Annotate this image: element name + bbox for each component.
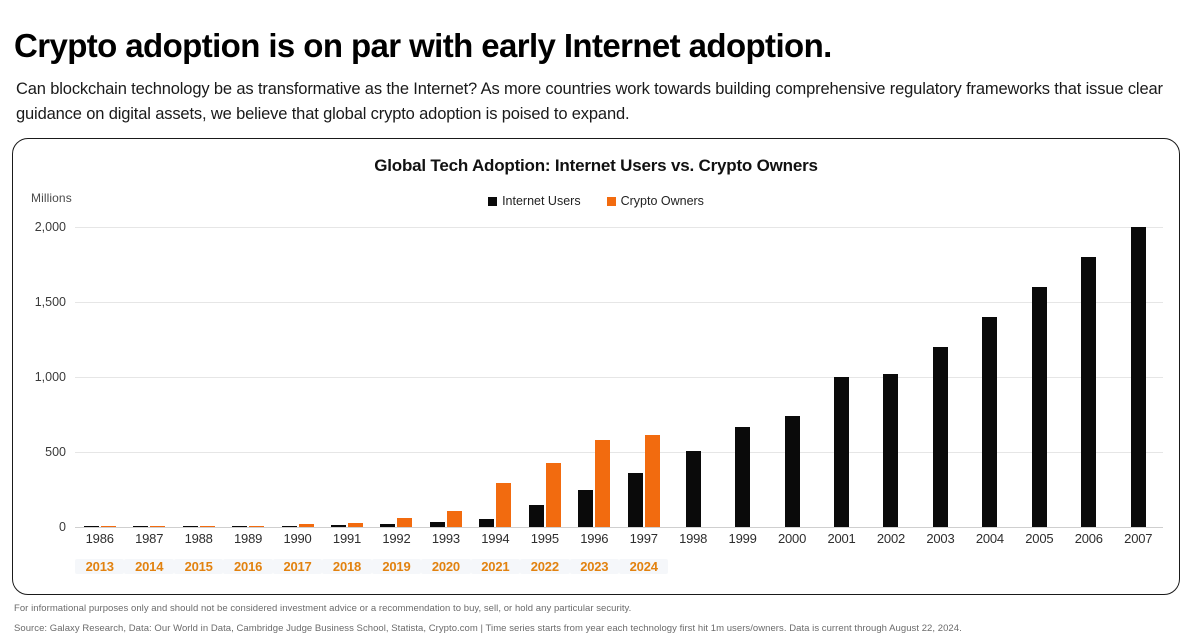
bar-group: [322, 227, 371, 527]
x-axis-label-crypto-empty: [916, 559, 965, 574]
x-axis-label-crypto: 2013: [75, 559, 124, 574]
bar-group: [718, 227, 767, 527]
x-axis-label-crypto: 2019: [372, 559, 421, 574]
x-axis-label-crypto: 2018: [322, 559, 371, 574]
y-axis-tick-label: 1,500: [35, 295, 66, 309]
bar-crypto-owners[interactable]: [546, 463, 561, 527]
x-axis-label-internet: 2003: [916, 531, 965, 546]
y-axis-unit-label: Millions: [31, 191, 72, 205]
bar-group: [866, 227, 915, 527]
x-axis-label-crypto: 2021: [471, 559, 520, 574]
bar-group: [570, 227, 619, 527]
x-axis-labels-crypto: 2013201420152016201720182019202020212022…: [75, 559, 1163, 574]
y-axis-tick-label: 500: [45, 445, 66, 459]
bar-crypto-owners[interactable]: [496, 483, 511, 527]
bar-group: [668, 227, 717, 527]
bar-internet-users[interactable]: [578, 490, 593, 528]
x-axis-label-internet: 1994: [471, 531, 520, 546]
disclaimer-text: For informational purposes only and shou…: [14, 603, 1174, 614]
bar-group: [916, 227, 965, 527]
bar-internet-users[interactable]: [785, 416, 800, 527]
report-page: Crypto adoption is on par with early Int…: [0, 0, 1193, 643]
bar-crypto-owners[interactable]: [645, 435, 660, 527]
x-axis-label-crypto-empty: [1114, 559, 1163, 574]
bar-crypto-owners[interactable]: [299, 524, 314, 527]
bar-group: [273, 227, 322, 527]
bar-internet-users[interactable]: [529, 505, 544, 528]
bar-crypto-owners[interactable]: [447, 511, 462, 527]
bar-group: [75, 227, 124, 527]
bar-group: [965, 227, 1014, 527]
bar-internet-users[interactable]: [84, 526, 99, 527]
gridline: 0: [75, 527, 1163, 528]
bar-group: [471, 227, 520, 527]
bar-internet-users[interactable]: [183, 526, 198, 527]
legend-item-crypto-owners[interactable]: Crypto Owners: [607, 194, 704, 208]
bar-group: [619, 227, 668, 527]
bar-crypto-owners[interactable]: [150, 526, 165, 527]
bar-internet-users[interactable]: [479, 519, 494, 527]
bar-crypto-owners[interactable]: [200, 526, 215, 527]
x-axis-label-crypto-empty: [817, 559, 866, 574]
bar-crypto-owners[interactable]: [397, 518, 412, 527]
bar-group: [372, 227, 421, 527]
x-axis-label-crypto-empty: [1015, 559, 1064, 574]
bar-group: [124, 227, 173, 527]
bar-crypto-owners[interactable]: [249, 526, 264, 527]
page-subheadline: Can blockchain technology be as transfor…: [16, 77, 1166, 128]
x-axis-label-crypto: 2023: [570, 559, 619, 574]
bar-group: [223, 227, 272, 527]
x-axis-label-internet: 2001: [817, 531, 866, 546]
bar-internet-users[interactable]: [834, 377, 849, 527]
x-axis-labels-internet: 1986198719881989199019911992199319941995…: [75, 531, 1163, 546]
x-axis-label-internet: 1997: [619, 531, 668, 546]
bar-internet-users[interactable]: [232, 526, 247, 527]
bar-internet-users[interactable]: [735, 427, 750, 527]
bar-internet-users[interactable]: [933, 347, 948, 527]
chart-title: Global Tech Adoption: Internet Users vs.…: [13, 156, 1179, 176]
bar-internet-users[interactable]: [982, 317, 997, 527]
x-axis-label-internet: 1998: [668, 531, 717, 546]
x-axis-label-internet: 2007: [1114, 531, 1163, 546]
legend-swatch-icon: [488, 197, 497, 206]
page-headline: Crypto adoption is on par with early Int…: [14, 26, 1174, 66]
bar-internet-users[interactable]: [133, 526, 148, 527]
y-axis-tick-label: 2,000: [35, 220, 66, 234]
x-axis-label-internet: 1995: [520, 531, 569, 546]
bar-group: [421, 227, 470, 527]
bar-crypto-owners[interactable]: [348, 523, 363, 528]
bar-group: [520, 227, 569, 527]
x-axis-label-internet: 1988: [174, 531, 223, 546]
x-axis-label-crypto-empty: [767, 559, 816, 574]
x-axis-label-internet: 1992: [372, 531, 421, 546]
bar-crypto-owners[interactable]: [101, 526, 116, 527]
bar-internet-users[interactable]: [883, 374, 898, 527]
x-axis-label-internet: 1996: [570, 531, 619, 546]
x-axis-label-crypto-empty: [965, 559, 1014, 574]
x-axis-label-crypto: 2017: [273, 559, 322, 574]
x-axis-label-crypto: 2014: [124, 559, 173, 574]
bar-internet-users[interactable]: [282, 526, 297, 528]
x-axis-label-internet: 2006: [1064, 531, 1113, 546]
x-axis-label-crypto: 2020: [421, 559, 470, 574]
bar-crypto-owners[interactable]: [595, 440, 610, 527]
bar-series-container: [75, 227, 1163, 527]
source-text: Source: Galaxy Research, Data: Our World…: [14, 623, 1179, 634]
bar-internet-users[interactable]: [430, 522, 445, 527]
x-axis-label-internet: 1993: [421, 531, 470, 546]
legend-swatch-icon: [607, 197, 616, 206]
bar-internet-users[interactable]: [1131, 227, 1146, 527]
x-axis-label-crypto-empty: [668, 559, 717, 574]
x-axis-label-internet: 2004: [965, 531, 1014, 546]
bar-group: [1114, 227, 1163, 527]
bar-internet-users[interactable]: [1081, 257, 1096, 527]
x-axis-label-internet: 1991: [322, 531, 371, 546]
bar-internet-users[interactable]: [1032, 287, 1047, 527]
x-axis-label-crypto-empty: [1064, 559, 1113, 574]
x-axis-label-internet: 1990: [273, 531, 322, 546]
x-axis-label-internet: 1986: [75, 531, 124, 546]
x-axis-label-crypto: 2022: [520, 559, 569, 574]
bar-group: [817, 227, 866, 527]
legend-label: Crypto Owners: [621, 194, 704, 208]
x-axis-label-crypto: 2016: [223, 559, 272, 574]
x-axis-label-internet: 2002: [866, 531, 915, 546]
bar-internet-users[interactable]: [686, 451, 701, 528]
bar-internet-users[interactable]: [628, 473, 643, 527]
bar-group: [174, 227, 223, 527]
y-axis-tick-label: 0: [59, 520, 66, 534]
x-axis-label-crypto-empty: [718, 559, 767, 574]
bar-internet-users[interactable]: [331, 525, 346, 527]
bar-group: [767, 227, 816, 527]
x-axis-label-crypto-empty: [866, 559, 915, 574]
y-axis-tick-label: 1,000: [35, 370, 66, 384]
chart-legend: Internet UsersCrypto Owners: [13, 194, 1179, 208]
x-axis-label-internet: 2000: [767, 531, 816, 546]
x-axis-label-internet: 1999: [718, 531, 767, 546]
x-axis-label-crypto: 2024: [619, 559, 668, 574]
bar-group: [1064, 227, 1113, 527]
bar-group: [1015, 227, 1064, 527]
x-axis-label-internet: 1989: [223, 531, 272, 546]
x-axis-label-crypto: 2015: [174, 559, 223, 574]
chart-card: Global Tech Adoption: Internet Users vs.…: [12, 138, 1180, 595]
x-axis-label-internet: 1987: [124, 531, 173, 546]
plot-area: 05001,0001,5002,000: [75, 227, 1163, 527]
legend-item-internet-users[interactable]: Internet Users: [488, 194, 581, 208]
x-axis-label-internet: 2005: [1015, 531, 1064, 546]
bar-internet-users[interactable]: [380, 524, 395, 527]
legend-label: Internet Users: [502, 194, 581, 208]
